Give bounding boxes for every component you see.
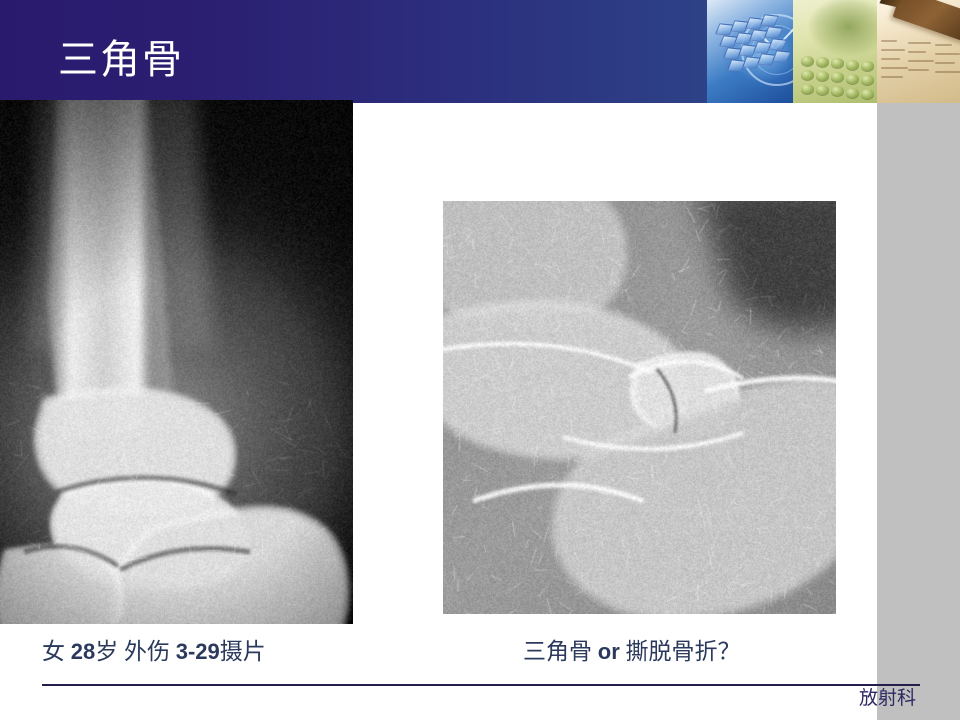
page-title: 三角骨 (58, 36, 184, 84)
caption-segment: 28 (71, 639, 95, 664)
caption-segment: 摄片 (220, 639, 266, 664)
right-image-caption: 三角骨 or 撕脱骨折？ (523, 637, 741, 667)
caption-segment: 三角骨 (523, 639, 598, 664)
radiograph-canvas (0, 100, 353, 624)
header-banner-strip (707, 0, 960, 103)
sepia-pen-paper-panel-icon (877, 0, 960, 103)
footer-department-label: 放射科 (859, 686, 916, 712)
left-image-caption: 女 28岁 外伤 3-29摄片 (42, 637, 266, 667)
footer-divider (42, 684, 920, 686)
right-gray-band (877, 103, 960, 720)
caption-segment: or (598, 639, 620, 664)
slide-root: 三角骨 女 28岁 外伤 3-29摄片 三角骨 or 撕脱骨折？ 放射科 (0, 0, 960, 720)
green-calculator-panel-icon (793, 0, 877, 103)
ankle-lateral-radiograph (0, 100, 353, 624)
caption-segment: 3-29 (176, 639, 220, 664)
caption-segment: 岁 外伤 (95, 639, 176, 664)
posterior-talus-magnified-radiograph (443, 201, 836, 614)
radiograph-canvas (443, 201, 836, 614)
blue-technology-panel-icon (707, 0, 793, 103)
caption-segment: 女 (42, 639, 71, 664)
caption-segment: 撕脱骨折？ (620, 639, 741, 664)
fountain-pen-icon (893, 0, 960, 46)
